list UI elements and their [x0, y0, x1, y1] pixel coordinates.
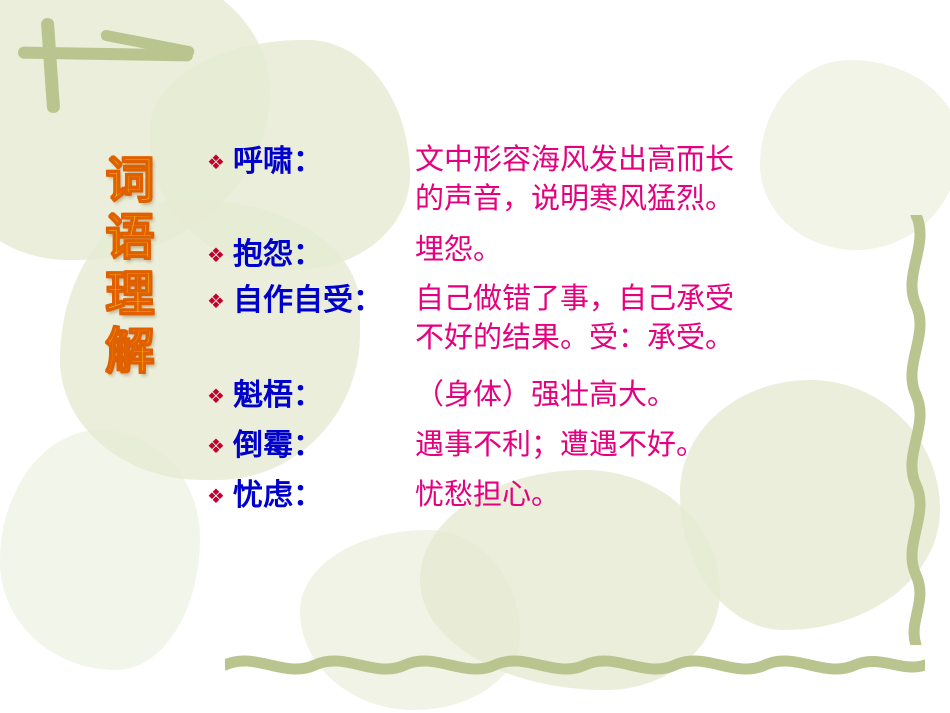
title-char: 解: [105, 326, 154, 377]
list-item: ❖ 倒霉： 遇事不利；遭遇不好。: [205, 424, 905, 468]
branch-decoration-horizontal: [18, 46, 193, 61]
vocabulary-list: ❖ 呼啸： 文中形容海风发出高而长 的声音，说明寒风猛烈。 ❖ 抱怨： 埋怨。 …: [205, 140, 905, 524]
vocabulary-term: 倒霉：: [233, 424, 415, 468]
vocabulary-definition: （身体）强壮高大。: [415, 374, 905, 414]
list-item: ❖ 自作自受： 自己做错了事，自己承受 不好的结果。受：承受。: [205, 279, 905, 358]
vocabulary-definition: 文中形容海风发出高而长 的声音，说明寒风猛烈。: [415, 140, 905, 219]
page-title: 词 语 理 解: [85, 155, 175, 377]
leaf-blob: [300, 530, 520, 710]
list-item: ❖ 抱怨： 埋怨。: [205, 233, 905, 277]
vocabulary-definition: 自己做错了事，自己承受 不好的结果。受：承受。: [415, 279, 905, 358]
vocabulary-definition: 埋怨。: [415, 229, 905, 269]
vocabulary-term: 呼啸：: [233, 140, 415, 184]
vocabulary-definition: 忧愁担心。: [415, 474, 905, 514]
diamond-bullet-icon: ❖: [205, 279, 233, 323]
vocabulary-definition: 遇事不利；遭遇不好。: [415, 424, 905, 464]
diamond-bullet-icon: ❖: [205, 424, 233, 468]
branch-decoration-vertical: [41, 18, 61, 114]
slide-canvas: 词 语 理 解 ❖ 呼啸： 文中形容海风发出高而长 的声音，说明寒风猛烈。 ❖ …: [0, 0, 950, 713]
title-char: 语: [105, 212, 154, 263]
branch-decoration-diagonal: [100, 29, 195, 58]
diamond-bullet-icon: ❖: [205, 140, 233, 184]
vocabulary-term: 忧虑：: [233, 474, 415, 518]
diamond-bullet-icon: ❖: [205, 374, 233, 418]
diamond-bullet-icon: ❖: [205, 233, 233, 277]
list-item: ❖ 魁梧： （身体）强壮高大。: [205, 374, 905, 418]
list-item: ❖ 忧虑： 忧愁担心。: [205, 474, 905, 518]
list-item: ❖ 呼啸： 文中形容海风发出高而长 的声音，说明寒风猛烈。: [205, 140, 905, 219]
vocabulary-term: 抱怨：: [233, 233, 415, 277]
diamond-bullet-icon: ❖: [205, 474, 233, 518]
vocabulary-term: 自作自受：: [233, 279, 415, 323]
title-char: 词: [105, 155, 154, 206]
title-char: 理: [105, 269, 154, 320]
vine-decoration-bottom: [225, 645, 925, 685]
vocabulary-term: 魁梧：: [233, 374, 415, 418]
leaf-blob: [0, 430, 200, 670]
